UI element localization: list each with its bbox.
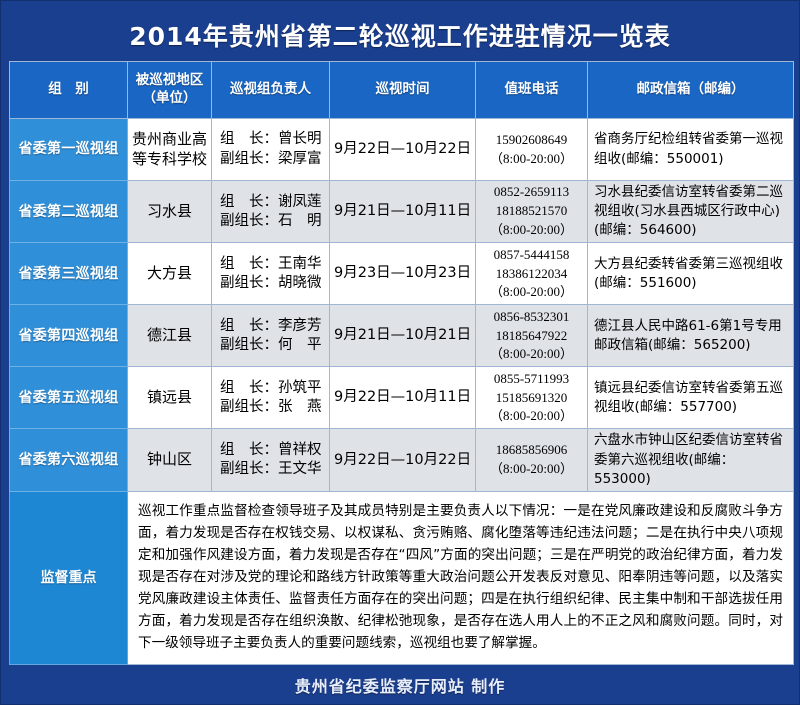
- cell-region: 钟山区: [128, 429, 212, 491]
- table-header: 组 别 被巡视地区 （单位） 巡视组负责人 巡视时间 值班电话 邮政信箱（邮编）: [10, 62, 794, 119]
- supervision-focus-label: 监督重点: [10, 491, 128, 664]
- column-header-time: 巡视时间: [330, 62, 476, 119]
- leader-label: 组 长：: [220, 256, 278, 272]
- cell-time: 9月22日—10月22日: [330, 119, 476, 181]
- phone-hours: （8:00-20:00）: [480, 283, 583, 302]
- poster-container: 2014年贵州省第二轮巡视工作进驻情况一览表 组 别 被巡视地区 （单位） 巡视…: [0, 0, 800, 705]
- leader-name: 孙筑平: [278, 380, 322, 396]
- cell-region: 习水县: [128, 181, 212, 243]
- supervision-focus-row: 监督重点 巡视工作重点监督检查领导班子及其成员特别是主要负责人以下情况：一是在党…: [10, 491, 794, 664]
- phone-number: 18188521570: [480, 202, 583, 221]
- deputy-label: 副组长：: [220, 399, 278, 415]
- cell-group: 省委第四巡视组: [10, 305, 128, 367]
- deputy-label: 副组长：: [220, 151, 278, 167]
- phone-number: 0855-5711993: [480, 370, 583, 389]
- deputy-name: 胡晓微: [278, 275, 322, 291]
- table-row: 省委第一巡视组贵州商业高等专科学校组 长：曾长明副组长：梁厚富9月22日—10月…: [10, 119, 794, 181]
- column-header-mailbox: 邮政信箱（邮编）: [588, 62, 794, 119]
- leader-name: 李彦芳: [278, 318, 322, 334]
- column-header-group: 组 别: [10, 62, 128, 119]
- leader-name: 曾长明: [278, 131, 322, 147]
- cell-deputy-line: 副组长：张 燕: [220, 398, 325, 417]
- deputy-name: 王文华: [278, 461, 322, 477]
- leader-label: 组 长：: [220, 442, 278, 458]
- cell-phone: 0856-853230118185647922（8:00-20:00）: [476, 305, 588, 367]
- cell-leader: 组 长：李彦芳副组长：何 平: [212, 305, 330, 367]
- cell-deputy-line: 副组长：梁厚富: [220, 150, 325, 169]
- column-header-leader: 巡视组负责人: [212, 62, 330, 119]
- cell-group: 省委第二巡视组: [10, 181, 128, 243]
- table-row: 省委第二巡视组习水县组 长：谢凤莲副组长：石 明9月21日—10月11日0852…: [10, 181, 794, 243]
- cell-deputy-line: 副组长：王文华: [220, 460, 325, 479]
- cell-region: 德江县: [128, 305, 212, 367]
- phone-number: 0857-5444158: [480, 246, 583, 265]
- cell-group: 省委第一巡视组: [10, 119, 128, 181]
- cell-leader: 组 长：孙筑平副组长：张 燕: [212, 367, 330, 429]
- cell-phone: 0855-571199315185691320（8:00-20:00）: [476, 367, 588, 429]
- cell-leader: 组 长：谢凤莲副组长：石 明: [212, 181, 330, 243]
- page-title: 2014年贵州省第二轮巡视工作进驻情况一览表: [129, 17, 671, 53]
- cell-phone: 0857-544415818386122034（8:00-20:00）: [476, 243, 588, 305]
- cell-mailbox: 德江县人民中路61-6第1号专用邮政信箱(邮编：565200): [588, 305, 794, 367]
- deputy-label: 副组长：: [220, 275, 278, 291]
- title-bar: 2014年贵州省第二轮巡视工作进驻情况一览表: [9, 9, 791, 61]
- column-header-region-line2: （单位）: [132, 90, 207, 108]
- phone-number: 18386122034: [480, 265, 583, 284]
- leader-label: 组 长：: [220, 194, 278, 210]
- phone-number: 18185647922: [480, 327, 583, 346]
- phone-hours: （8:00-20:00）: [480, 345, 583, 364]
- cell-leader: 组 长：曾长明副组长：梁厚富: [212, 119, 330, 181]
- leader-label: 组 长：: [220, 318, 278, 334]
- leader-name: 曾祥权: [278, 442, 322, 458]
- header-row: 组 别 被巡视地区 （单位） 巡视组负责人 巡视时间 值班电话 邮政信箱（邮编）: [10, 62, 794, 119]
- cell-deputy-line: 副组长：何 平: [220, 336, 325, 355]
- table-body: 省委第一巡视组贵州商业高等专科学校组 长：曾长明副组长：梁厚富9月22日—10月…: [10, 119, 794, 492]
- phone-number: 15185691320: [480, 389, 583, 408]
- deputy-name: 梁厚富: [278, 151, 322, 167]
- cell-region: 大方县: [128, 243, 212, 305]
- cell-deputy-line: 副组长：石 明: [220, 212, 325, 231]
- inspection-table: 组 别 被巡视地区 （单位） 巡视组负责人 巡视时间 值班电话 邮政信箱（邮编）…: [9, 61, 794, 665]
- cell-group: 省委第三巡视组: [10, 243, 128, 305]
- cell-leader-line: 组 长：曾长明: [220, 130, 325, 149]
- table-row: 省委第三巡视组大方县组 长：王南华副组长：胡晓微9月23日—10月23日0857…: [10, 243, 794, 305]
- column-header-region: 被巡视地区 （单位）: [128, 62, 212, 119]
- leader-label: 组 长：: [220, 380, 278, 396]
- cell-leader-line: 组 长：曾祥权: [220, 441, 325, 460]
- cell-deputy-line: 副组长：胡晓微: [220, 274, 325, 293]
- phone-hours: （8:00-20:00）: [480, 460, 583, 479]
- cell-leader-line: 组 长：李彦芳: [220, 317, 325, 336]
- cell-group: 省委第五巡视组: [10, 367, 128, 429]
- phone-hours: （8:00-20:00）: [480, 150, 583, 169]
- cell-phone: 18685856906（8:00-20:00）: [476, 429, 588, 491]
- table-footer-notes: 监督重点 巡视工作重点监督检查领导班子及其成员特别是主要负责人以下情况：一是在党…: [10, 491, 794, 664]
- deputy-name: 何 平: [278, 337, 322, 353]
- cell-mailbox: 习水县纪委信访室转省委第二巡视组收(习水县西城区行政中心)(邮编：564600): [588, 181, 794, 243]
- cell-group: 省委第六巡视组: [10, 429, 128, 491]
- phone-hours: （8:00-20:00）: [480, 221, 583, 240]
- cell-mailbox: 省商务厅纪检组转省委第一巡视组收(邮编：550001): [588, 119, 794, 181]
- cell-mailbox: 镇远县纪委信访室转省委第五巡视组收(邮编：557700): [588, 367, 794, 429]
- deputy-name: 张 燕: [278, 399, 322, 415]
- cell-time: 9月21日—10月21日: [330, 305, 476, 367]
- phone-hours: （8:00-20:00）: [480, 407, 583, 426]
- cell-leader-line: 组 长：王南华: [220, 255, 325, 274]
- phone-number: 0852-2659113: [480, 183, 583, 202]
- cell-region: 贵州商业高等专科学校: [128, 119, 212, 181]
- column-header-region-line1: 被巡视地区: [132, 72, 207, 90]
- cell-mailbox: 六盘水市钟山区纪委信访室转省委第六巡视组收(邮编：553000): [588, 429, 794, 491]
- leader-label: 组 长：: [220, 131, 278, 147]
- cell-time: 9月22日—10月22日: [330, 429, 476, 491]
- table-row: 省委第五巡视组镇远县组 长：孙筑平副组长：张 燕9月22日—10月11日0855…: [10, 367, 794, 429]
- cell-time: 9月21日—10月11日: [330, 181, 476, 243]
- cell-leader: 组 长：曾祥权副组长：王文华: [212, 429, 330, 491]
- cell-region: 镇远县: [128, 367, 212, 429]
- phone-number: 18685856906: [480, 441, 583, 460]
- cell-time: 9月22日—10月11日: [330, 367, 476, 429]
- cell-leader: 组 长：王南华副组长：胡晓微: [212, 243, 330, 305]
- cell-time: 9月23日—10月23日: [330, 243, 476, 305]
- deputy-label: 副组长：: [220, 337, 278, 353]
- deputy-label: 副组长：: [220, 213, 278, 229]
- table-row: 省委第六巡视组钟山区组 长：曾祥权副组长：王文华9月22日—10月22日1868…: [10, 429, 794, 491]
- cell-phone: 15902608649（8:00-20:00）: [476, 119, 588, 181]
- deputy-name: 石 明: [278, 213, 322, 229]
- phone-number: 15902608649: [480, 131, 583, 150]
- footer-credit: 贵州省纪委监察厅网站 制作: [295, 673, 506, 697]
- phone-number: 0856-8532301: [480, 308, 583, 327]
- supervision-focus-body: 巡视工作重点监督检查领导班子及其成员特别是主要负责人以下情况：一是在党风廉政建设…: [128, 491, 794, 664]
- cell-leader-line: 组 长：孙筑平: [220, 379, 325, 398]
- cell-phone: 0852-265911318188521570（8:00-20:00）: [476, 181, 588, 243]
- cell-mailbox: 大方县纪委转省委第三巡视组收(邮编：551600): [588, 243, 794, 305]
- table-row: 省委第四巡视组德江县组 长：李彦芳副组长：何 平9月21日—10月21日0856…: [10, 305, 794, 367]
- footer-bar: 贵州省纪委监察厅网站 制作: [9, 666, 791, 704]
- leader-name: 谢凤莲: [278, 194, 322, 210]
- leader-name: 王南华: [278, 256, 322, 272]
- deputy-label: 副组长：: [220, 461, 278, 477]
- cell-leader-line: 组 长：谢凤莲: [220, 193, 325, 212]
- column-header-phone: 值班电话: [476, 62, 588, 119]
